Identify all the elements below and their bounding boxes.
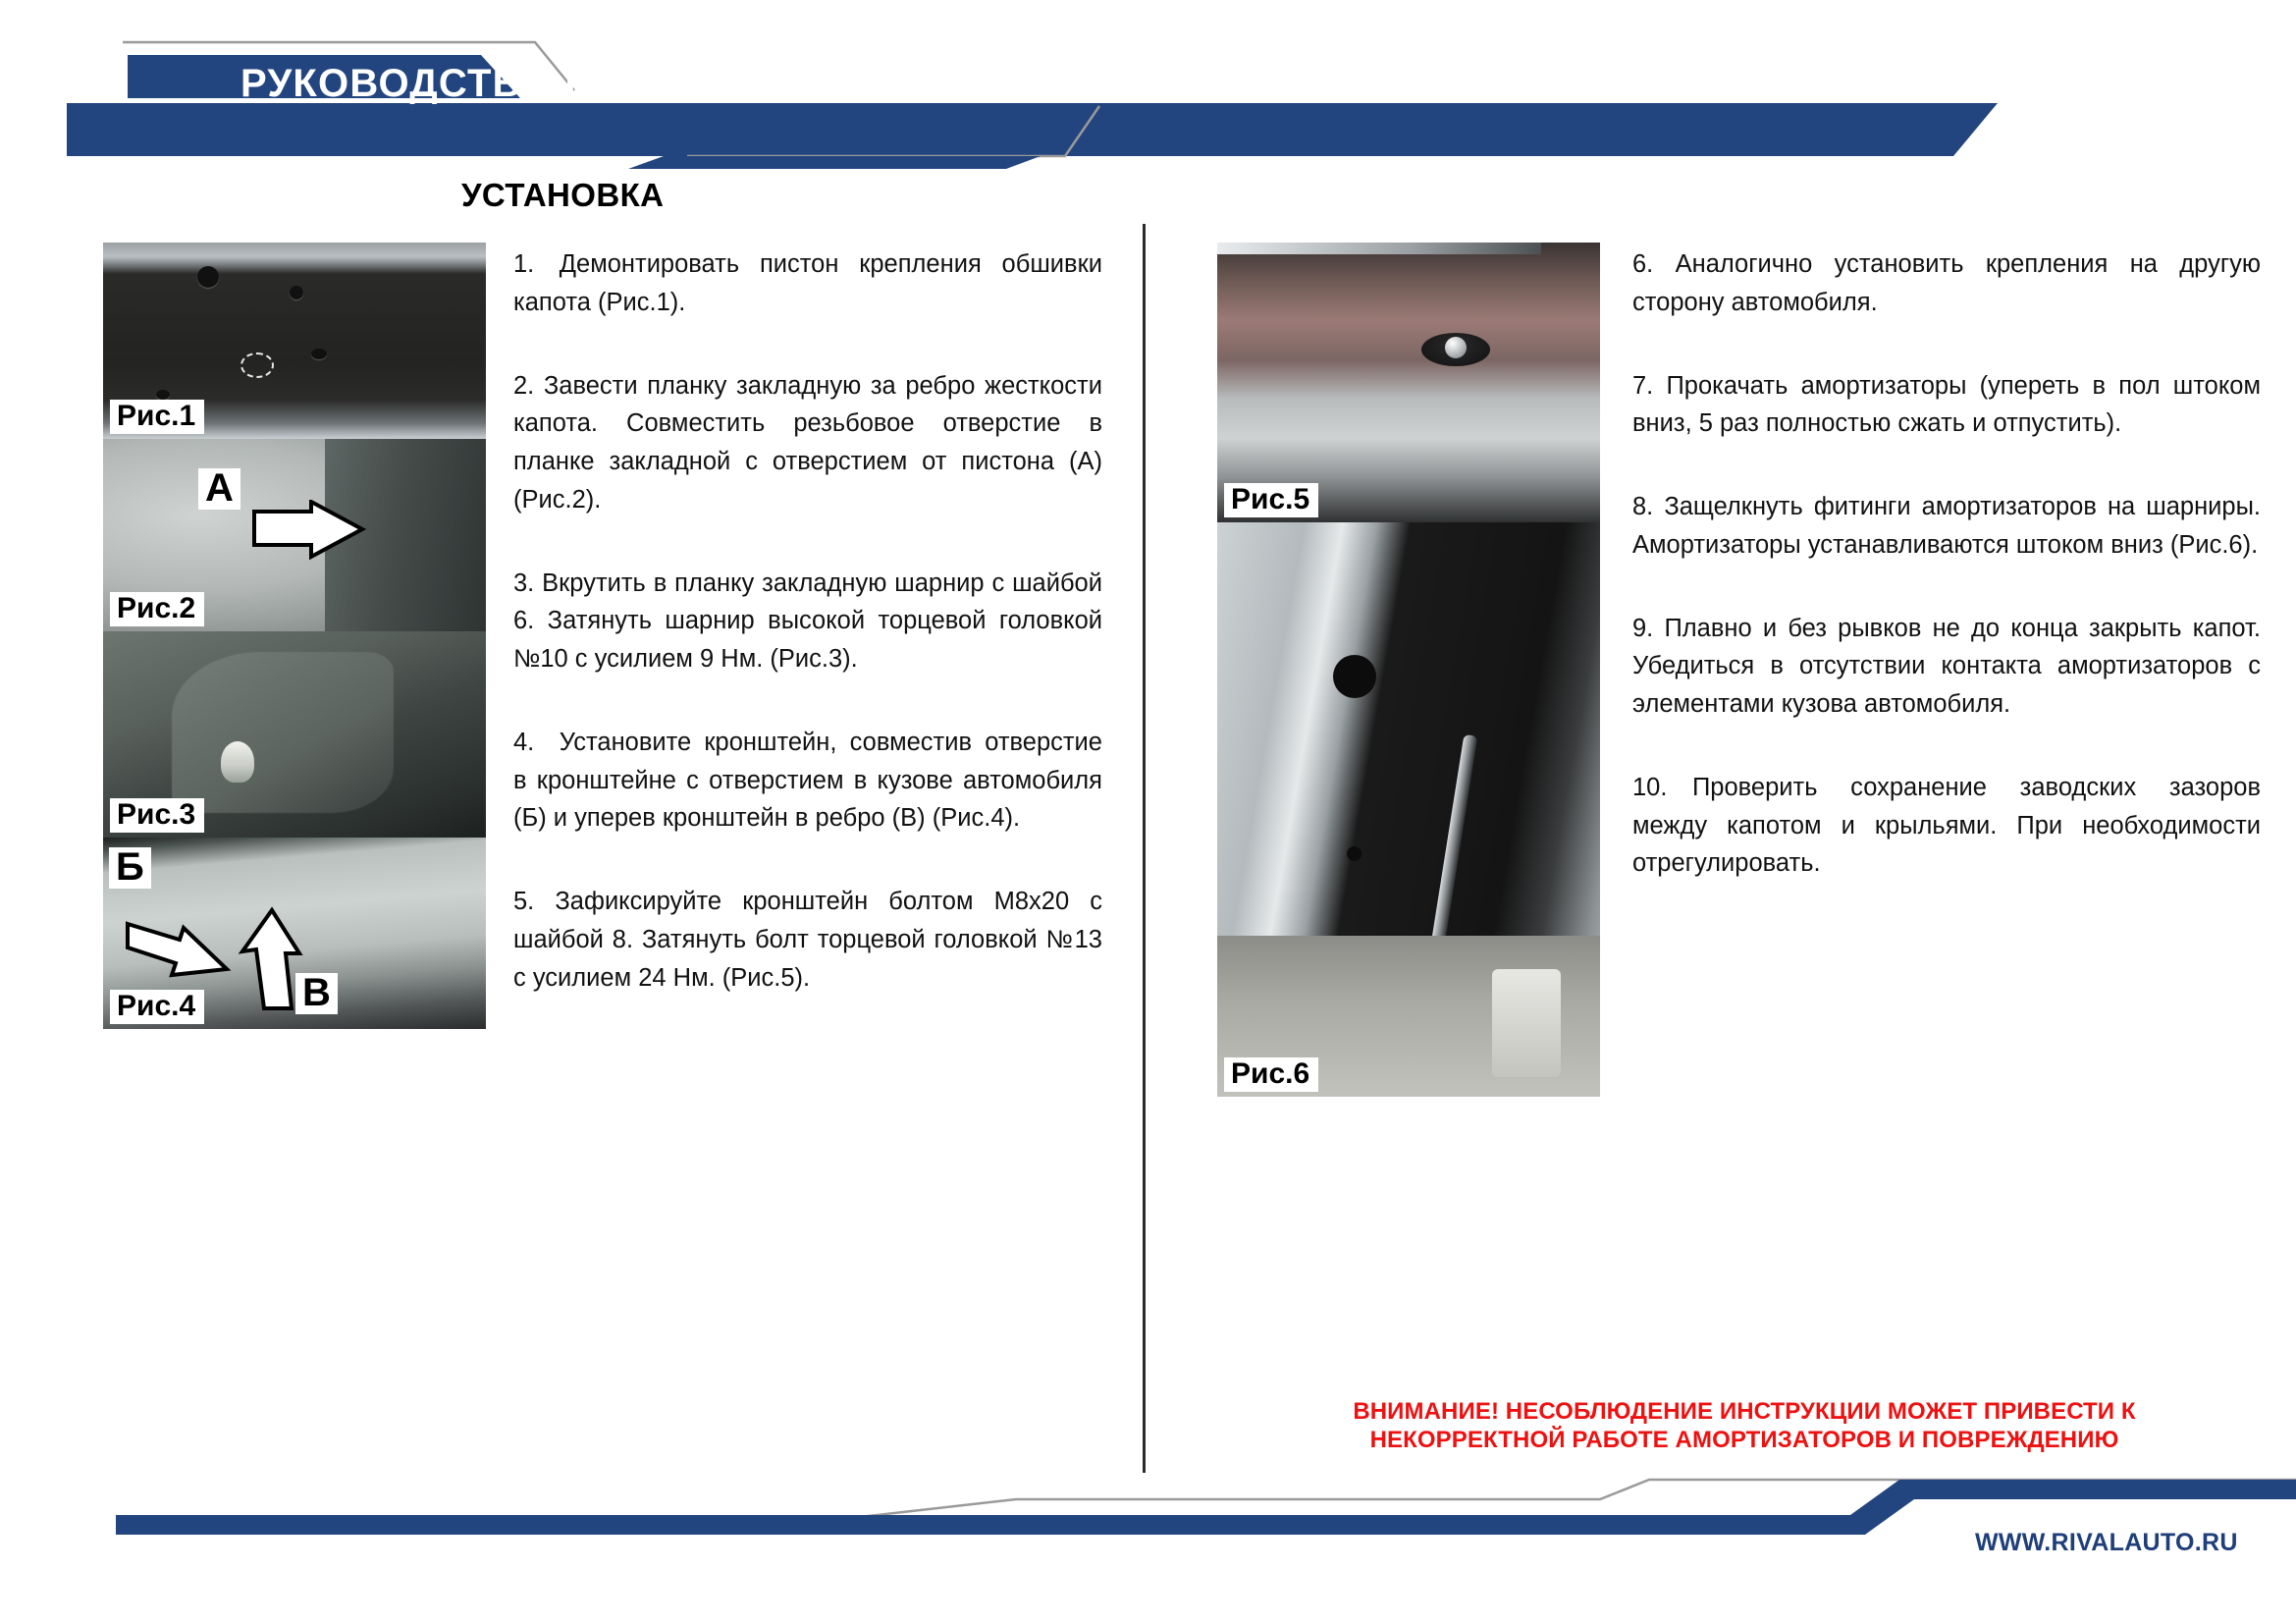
figure-ris6-label: Рис.6 xyxy=(1224,1057,1318,1093)
right-figure-column: Рис.5 Рис.6 xyxy=(1217,243,1605,1097)
figure-ris5: Рис.5 xyxy=(1217,243,1600,522)
column-divider xyxy=(1143,224,1146,1473)
page-header: РУКОВОДСТВО ПО УСТАНОВКЕ xyxy=(0,0,2296,172)
footer-url[interactable]: WWW.RIVALAUTO.RU xyxy=(1975,1529,2238,1557)
figure-ris1-label: Рис.1 xyxy=(110,400,204,435)
arrow-icon-ris2 xyxy=(250,500,368,565)
footer-banner-shape xyxy=(0,1478,2296,1624)
step-item-2: 2. Завести планку закладную за ребро жес… xyxy=(513,367,1102,519)
right-instruction-list: 6. Аналогично установить крепления на др… xyxy=(1632,245,2261,883)
figure-ris2-marker-a: А xyxy=(198,468,240,510)
figure-ris4-marker-b: Б xyxy=(109,847,151,889)
figure-ris2: А Рис.2 xyxy=(103,439,486,631)
footer-blue-band xyxy=(116,1480,2296,1535)
page-title: РУКОВОДСТВО ПО УСТАНОВКЕ xyxy=(240,62,887,106)
header-main-blue-band xyxy=(67,103,1998,156)
figure-ris5-label: Рис.5 xyxy=(1224,483,1318,518)
step-item-8: 8. Защелкнуть фитинги амортизаторов на ш… xyxy=(1632,488,2261,565)
arrow-icon-ris4-b xyxy=(125,914,233,983)
page-footer: WWW.RIVALAUTO.RU xyxy=(0,1478,2296,1624)
header-bottom-blue-strip xyxy=(628,156,1041,169)
step-item-4: 4. Установите кронштейн, совместив отвер… xyxy=(513,724,1102,838)
warning-line-2: НЕКОРРЕКТНОЙ РАБОТЕ АМОРТИЗАТОРОВ И ПОВР… xyxy=(1209,1427,2279,1455)
figure-ris3: Рис.3 xyxy=(103,631,486,838)
step-item-3: 3. Вкрутить в планку закладную шарнир с … xyxy=(513,565,1102,678)
figure-ris3-label: Рис.3 xyxy=(110,798,204,834)
left-instruction-list: 1. Демонтировать пистон крепления обшивк… xyxy=(513,245,1102,997)
left-figure-column: Рис.1 А Рис.2 Рис.3 Б В Рис.4 xyxy=(103,243,486,1029)
step-item-7: 7. Прокачать амортизаторы (упереть в пол… xyxy=(1632,367,2261,444)
step-item-6: 6. Аналогично установить крепления на др… xyxy=(1632,245,2261,322)
step-item-5: 5. Зафиксируйте кронштейн болтом M8x20 с… xyxy=(513,883,1102,997)
figure-ris5-photo xyxy=(1217,243,1600,522)
figure-ris4-marker-v: В xyxy=(295,973,338,1014)
step-item-9: 9. Плавно и без рывков не до конца закры… xyxy=(1632,610,2261,724)
figure-ris4: Б В Рис.4 xyxy=(103,838,486,1029)
figure-ris2-label: Рис.2 xyxy=(110,592,204,627)
warning-line-1: ВНИМАНИЕ! НЕСОБЛЮДЕНИЕ ИНСТРУКЦИИ МОЖЕТ … xyxy=(1209,1398,2279,1427)
figure-ris6: Рис.6 xyxy=(1217,522,1600,1097)
figure-ris4-label: Рис.4 xyxy=(110,990,204,1025)
warning-banner: ВНИМАНИЕ! НЕСОБЛЮДЕНИЕ ИНСТРУКЦИИ МОЖЕТ … xyxy=(1209,1398,2279,1455)
figure-ris6-photo xyxy=(1217,522,1600,1097)
step-item-10: 10. Проверить сохранение заводских зазор… xyxy=(1632,769,2261,883)
section-title: УСТАНОВКА xyxy=(461,177,664,214)
figure-ris1: Рис.1 xyxy=(103,243,486,439)
step-item-1: 1. Демонтировать пистон крепления обшивк… xyxy=(513,245,1102,322)
